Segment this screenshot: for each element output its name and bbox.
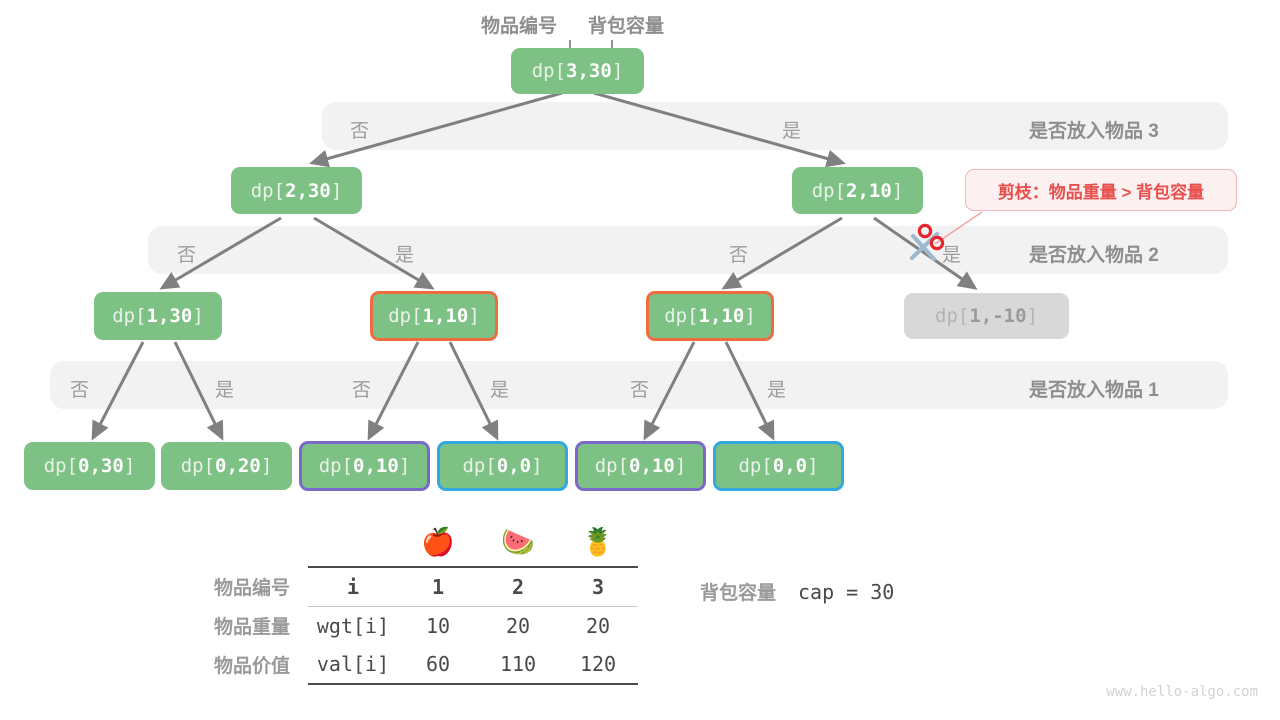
cell-value-2: 110 <box>478 645 558 684</box>
tree-node-dp-0-10-left[interactable]: dp[0,10] <box>299 441 430 491</box>
cell-value-1: 60 <box>398 645 478 684</box>
tree-node-dp-0-20[interactable]: dp[0,20] <box>161 442 292 490</box>
tree-node-dp-1-10-left[interactable]: dp[1,10] <box>370 291 498 341</box>
node-suffix: ] <box>744 305 755 327</box>
tree-node-dp-2-30[interactable]: dp[2,30] <box>231 167 362 214</box>
tree-node-dp-0-30[interactable]: dp[0,30] <box>24 442 155 490</box>
row-key-weight: wgt[i] <box>308 607 398 646</box>
band-label-3: 是否放入物品 3 <box>1029 116 1159 143</box>
capacity-info: 背包容量 cap = 30 <box>700 578 894 605</box>
prune-text: 剪枝：物品重量 > 背包容量 <box>998 178 1204 203</box>
node-args: 0,20 <box>215 455 261 477</box>
node-args: 0,10 <box>353 455 399 477</box>
choice-no-l2-2: 否 <box>729 240 748 267</box>
choice-no-l2-1: 否 <box>177 240 196 267</box>
node-args: 1,10 <box>699 305 745 327</box>
tree-node-root[interactable]: dp[3,30] <box>511 48 644 94</box>
row-label-weight: 物品重量 <box>160 607 308 646</box>
capacity-value: cap = 30 <box>798 580 894 604</box>
node-suffix: ] <box>192 305 203 327</box>
tree-node-dp-1-neg10-pruned[interactable]: dp[1,-10] <box>904 293 1069 339</box>
header-item-index: 物品编号 <box>481 11 557 38</box>
band-label-2: 是否放入物品 2 <box>1029 240 1159 267</box>
node-prefix: dp[ <box>738 455 772 477</box>
choice-yes-l3-1: 是 <box>782 116 801 143</box>
emoji-pineapple: 🍍 <box>558 520 638 567</box>
choice-yes-l1-3: 是 <box>767 375 786 402</box>
node-prefix: dp[ <box>319 455 353 477</box>
emoji-key-spacer <box>308 520 398 567</box>
choice-yes-l1-1: 是 <box>215 375 234 402</box>
header-bag-capacity: 背包容量 <box>588 11 664 38</box>
node-suffix: ] <box>531 455 542 477</box>
cell-index-1: 1 <box>398 567 478 607</box>
cell-index-3: 3 <box>558 567 638 607</box>
tree-node-dp-0-0-right[interactable]: dp[0,0] <box>713 441 844 491</box>
choice-yes-l2-2: 是 <box>942 240 961 267</box>
row-label-value: 物品价值 <box>160 645 308 684</box>
node-suffix: ] <box>1027 305 1038 327</box>
node-suffix: ] <box>892 180 903 202</box>
cell-weight-3: 20 <box>558 607 638 646</box>
tree-node-dp-0-10-right[interactable]: dp[0,10] <box>575 441 706 491</box>
node-suffix: ] <box>612 60 623 82</box>
node-suffix: ] <box>468 305 479 327</box>
tree-node-dp-0-0-left[interactable]: dp[0,0] <box>437 441 568 491</box>
row-label-index: 物品编号 <box>160 567 308 607</box>
table-row-index: 物品编号 i 1 2 3 <box>160 567 638 607</box>
band-label-1: 是否放入物品 1 <box>1029 375 1159 402</box>
diagram-canvas: 是否放入物品 3 是否放入物品 2 是否放入物品 1 否 是 否 是 否 是 否… <box>0 0 1280 720</box>
node-args: 0,30 <box>78 455 124 477</box>
row-key-value: val[i] <box>308 645 398 684</box>
node-args: 1,-10 <box>969 305 1026 327</box>
node-prefix: dp[ <box>935 305 969 327</box>
table-row-value: 物品价值 val[i] 60 110 120 <box>160 645 638 684</box>
node-args: 0,10 <box>629 455 675 477</box>
node-prefix: dp[ <box>532 60 566 82</box>
emoji-row-spacer <box>160 520 308 567</box>
node-suffix: ] <box>124 455 135 477</box>
node-args: 0,0 <box>773 455 807 477</box>
cell-weight-1: 10 <box>398 607 478 646</box>
node-prefix: dp[ <box>388 305 422 327</box>
cell-value-3: 120 <box>558 645 638 684</box>
table-row-weight: 物品重量 wgt[i] 10 20 20 <box>160 607 638 646</box>
choice-no-l1-2: 否 <box>352 375 371 402</box>
choice-no-l1-3: 否 <box>630 375 649 402</box>
node-prefix: dp[ <box>112 305 146 327</box>
emoji-apple: 🍎 <box>398 520 478 567</box>
node-suffix: ] <box>261 455 272 477</box>
emoji-watermelon: 🍉 <box>478 520 558 567</box>
node-prefix: dp[ <box>181 455 215 477</box>
table-row-emoji: 🍎 🍉 🍍 <box>160 520 638 567</box>
capacity-label: 背包容量 <box>700 578 776 605</box>
node-prefix: dp[ <box>44 455 78 477</box>
cell-weight-2: 20 <box>478 607 558 646</box>
items-table: 🍎 🍉 🍍 物品编号 i 1 2 3 物品重量 wgt[i] 10 20 20 … <box>160 520 638 685</box>
node-prefix: dp[ <box>664 305 698 327</box>
node-suffix: ] <box>807 455 818 477</box>
node-args: 0,0 <box>497 455 531 477</box>
node-prefix: dp[ <box>462 455 496 477</box>
node-args: 1,30 <box>147 305 193 327</box>
tree-node-dp-2-10[interactable]: dp[2,10] <box>792 167 923 214</box>
choice-no-l1-1: 否 <box>70 375 89 402</box>
node-prefix: dp[ <box>595 455 629 477</box>
row-key-index: i <box>308 567 398 607</box>
tree-node-dp-1-10-right[interactable]: dp[1,10] <box>646 291 774 341</box>
node-args: 3,30 <box>566 60 612 82</box>
cell-index-2: 2 <box>478 567 558 607</box>
node-suffix: ] <box>399 455 410 477</box>
choice-yes-l1-2: 是 <box>490 375 509 402</box>
node-args: 2,30 <box>285 180 331 202</box>
choice-yes-l2-1: 是 <box>395 240 414 267</box>
node-args: 1,10 <box>423 305 469 327</box>
choice-no-l3-1: 否 <box>350 116 369 143</box>
node-prefix: dp[ <box>812 180 846 202</box>
watermark: www.hello-algo.com <box>1106 684 1258 700</box>
node-prefix: dp[ <box>251 180 285 202</box>
node-suffix: ] <box>331 180 342 202</box>
node-suffix: ] <box>675 455 686 477</box>
node-args: 2,10 <box>846 180 892 202</box>
tree-node-dp-1-30[interactable]: dp[1,30] <box>94 292 222 340</box>
prune-callout: 剪枝：物品重量 > 背包容量 <box>965 169 1237 211</box>
